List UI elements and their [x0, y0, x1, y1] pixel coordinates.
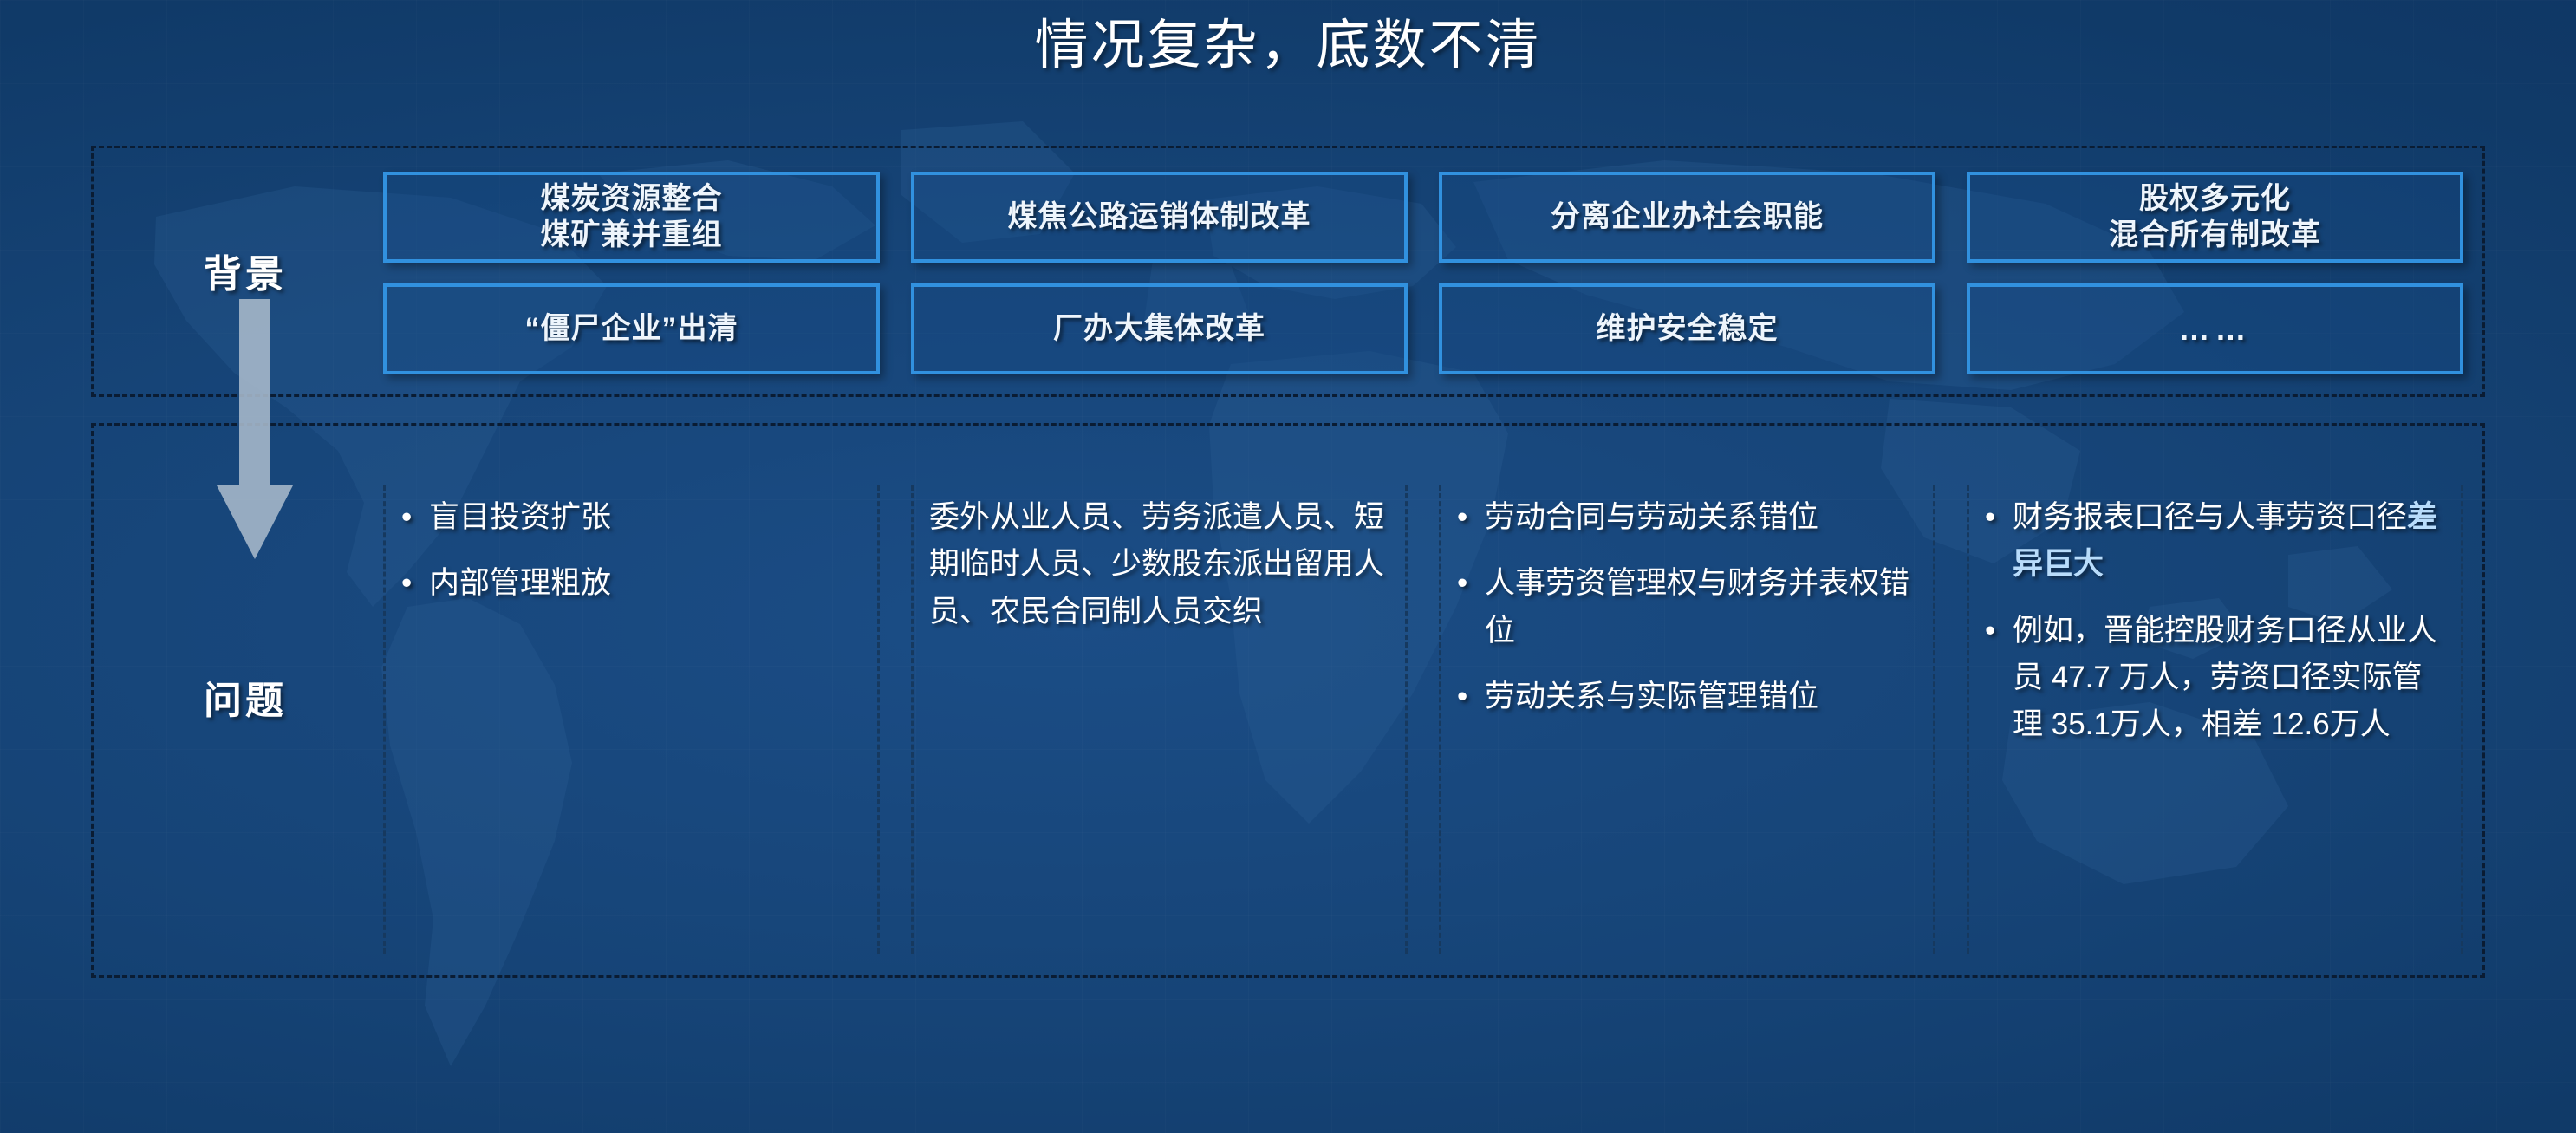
- background-box-line: ……: [2179, 310, 2252, 348]
- problem-bullet-list: • 盲目投资扩张 • 内部管理粗放: [401, 494, 858, 608]
- bullet-dot-icon: •: [1985, 494, 2013, 541]
- list-item: • 盲目投资扩张: [401, 494, 858, 541]
- list-item: • 例如，晋能控股财务口径从业人员 47.7 万人，劳资口径实际管理 35.1万…: [1985, 608, 2442, 749]
- bullet-dot-icon: •: [1985, 608, 2013, 654]
- problem-column: • 劳动合同与劳动关系错位 • 人事劳资管理权与财务并表权错位 • 劳动关系与实…: [1439, 485, 1935, 954]
- background-box-line: 维护安全稳定: [1597, 311, 1779, 347]
- background-box-line: 股权多元化: [2109, 181, 2321, 217]
- background-box-line: 分离企业办社会职能: [1551, 199, 1824, 235]
- problem-rail-label: 问题: [204, 669, 287, 725]
- down-arrow-icon: [217, 299, 293, 559]
- background-box[interactable]: 厂办大集体改革: [911, 283, 1408, 374]
- background-box-line: 混合所有制改革: [2109, 218, 2321, 253]
- list-item-label: 劳动关系与实际管理错位: [1485, 674, 1914, 720]
- background-box[interactable]: 股权多元化 混合所有制改革: [1967, 172, 2463, 263]
- bullet-dot-icon: •: [1457, 560, 1485, 607]
- problem-column: 委外从业人员、劳务派遣人员、短期临时人员、少数股东派出留用人员、农民合同制人员交…: [911, 485, 1408, 954]
- background-boxes-grid: 煤炭资源整合 煤矿兼并重组 煤焦公路运销体制改革 分离企业办社会职能 股权多元化…: [383, 172, 2463, 374]
- bullet-dot-icon: •: [1457, 674, 1485, 720]
- list-item-label: 内部管理粗放: [429, 560, 858, 607]
- bullet-dot-icon: •: [401, 494, 429, 541]
- background-box-line: 煤矿兼并重组: [541, 218, 723, 253]
- problem-column: • 盲目投资扩张 • 内部管理粗放: [383, 485, 880, 954]
- background-box[interactable]: 维护安全稳定: [1439, 283, 1935, 374]
- list-item: • 劳动合同与劳动关系错位: [1457, 494, 1914, 541]
- background-box-line: 煤炭资源整合: [541, 181, 723, 217]
- list-item: • 财务报表口径与人事劳资口径差异巨大: [1985, 494, 2442, 589]
- list-item: • 内部管理粗放: [401, 560, 858, 607]
- background-box[interactable]: 分离企业办社会职能: [1439, 172, 1935, 263]
- list-item-text: 财务报表口径与人事劳资口径: [2013, 500, 2407, 534]
- problem-columns-grid: • 盲目投资扩张 • 内部管理粗放 委外从业人员、劳务派遣人员、短期临时人员、少…: [383, 485, 2463, 954]
- list-item: • 人事劳资管理权与财务并表权错位: [1457, 560, 1914, 654]
- list-item-label: 劳动合同与劳动关系错位: [1485, 494, 1914, 541]
- problem-column: • 财务报表口径与人事劳资口径差异巨大 • 例如，晋能控股财务口径从业人员 47…: [1967, 485, 2463, 954]
- background-box-line: “僵尸企业”出清: [525, 311, 738, 347]
- list-item-label: 盲目投资扩张: [429, 494, 858, 541]
- problem-bullet-list: • 劳动合同与劳动关系错位 • 人事劳资管理权与财务并表权错位 • 劳动关系与实…: [1457, 494, 1914, 720]
- background-box-line: 煤焦公路运销体制改革: [1008, 199, 1311, 235]
- background-box[interactable]: 煤炭资源整合 煤矿兼并重组: [383, 172, 880, 263]
- background-rail-label: 背景: [204, 243, 287, 298]
- list-item-label: 财务报表口径与人事劳资口径差异巨大: [2013, 494, 2442, 589]
- page-title: 情况复杂，底数不清: [0, 12, 2576, 80]
- background-box[interactable]: “僵尸企业”出清: [383, 283, 880, 374]
- bullet-dot-icon: •: [1457, 494, 1485, 541]
- list-item-label: 例如，晋能控股财务口径从业人员 47.7 万人，劳资口径实际管理 35.1万人，…: [2013, 608, 2442, 749]
- background-box-more[interactable]: ……: [1967, 283, 2463, 374]
- background-box-line: 厂办大集体改革: [1053, 311, 1265, 347]
- problem-bullet-list: • 财务报表口径与人事劳资口径差异巨大 • 例如，晋能控股财务口径从业人员 47…: [1985, 494, 2442, 748]
- list-item: • 劳动关系与实际管理错位: [1457, 674, 1914, 720]
- list-item-label: 人事劳资管理权与财务并表权错位: [1485, 560, 1914, 654]
- bullet-dot-icon: •: [401, 560, 429, 607]
- background-box[interactable]: 煤焦公路运销体制改革: [911, 172, 1408, 263]
- problem-paragraph: 委外从业人员、劳务派遣人员、短期临时人员、少数股东派出留用人员、农民合同制人员交…: [929, 494, 1386, 635]
